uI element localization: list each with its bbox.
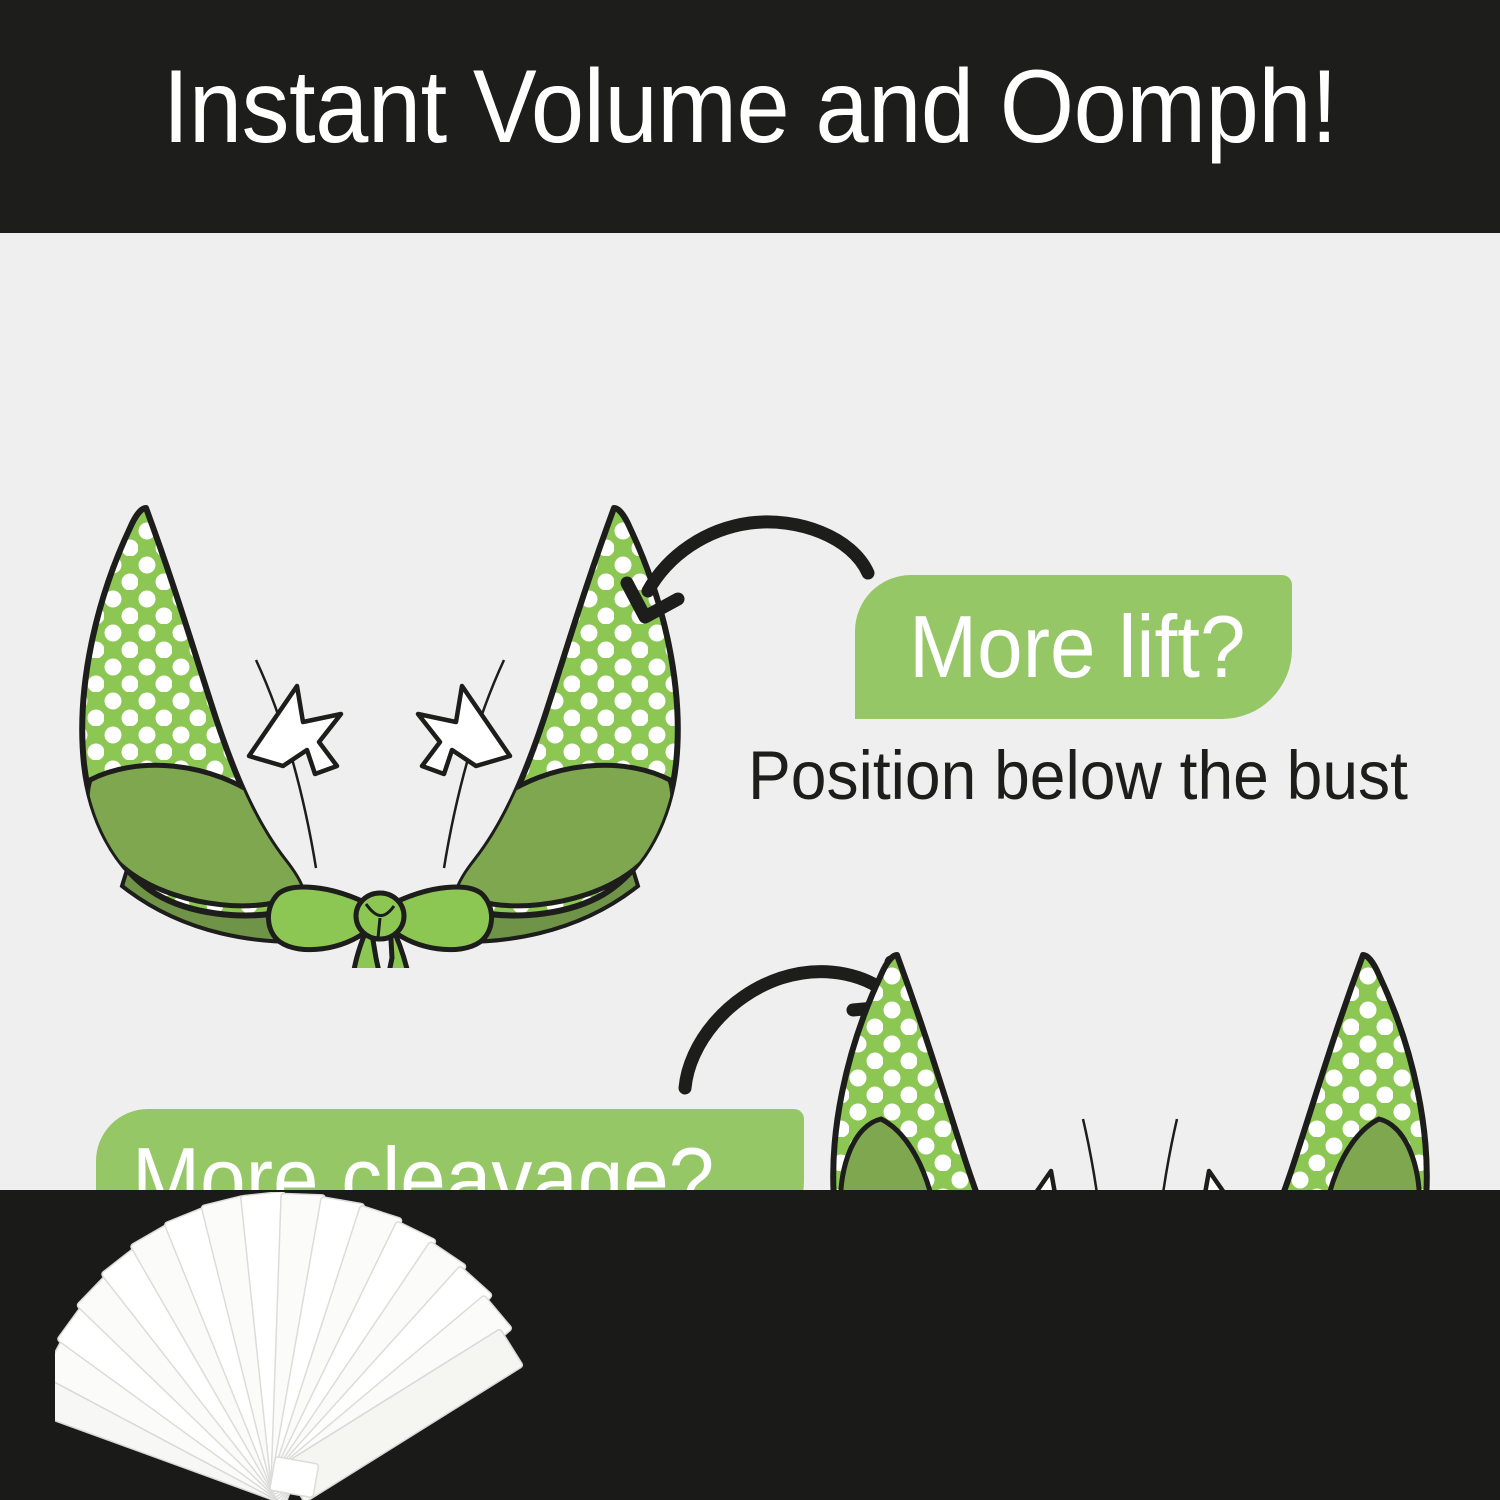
badge-more-lift-label: More lift? bbox=[909, 601, 1246, 693]
badge-more-lift: More lift? bbox=[855, 575, 1292, 719]
footer-bar: BONUS Pack of Double-Sided Tape Strips w… bbox=[0, 1190, 1500, 1500]
tape-strips-illustration bbox=[55, 1192, 575, 1500]
caption-position-below-bust: Position below the bust bbox=[748, 737, 1408, 815]
bra-cup-left bbox=[82, 508, 309, 915]
bra-bow bbox=[268, 887, 491, 968]
page-title: Instant Volume and Oomph! bbox=[60, 52, 1440, 162]
cursor-arrow-up-right-icon bbox=[249, 686, 341, 774]
header-bar: Instant Volume and Oomph! bbox=[0, 0, 1500, 233]
infographic-page: Instant Volume and Oomph! bbox=[0, 0, 1500, 1500]
bra-illustration-lift bbox=[70, 488, 690, 968]
cursor-arrow-up-left-icon bbox=[418, 686, 510, 774]
main-illustration-panel: More lift? Position below the bust More … bbox=[0, 233, 1500, 1190]
